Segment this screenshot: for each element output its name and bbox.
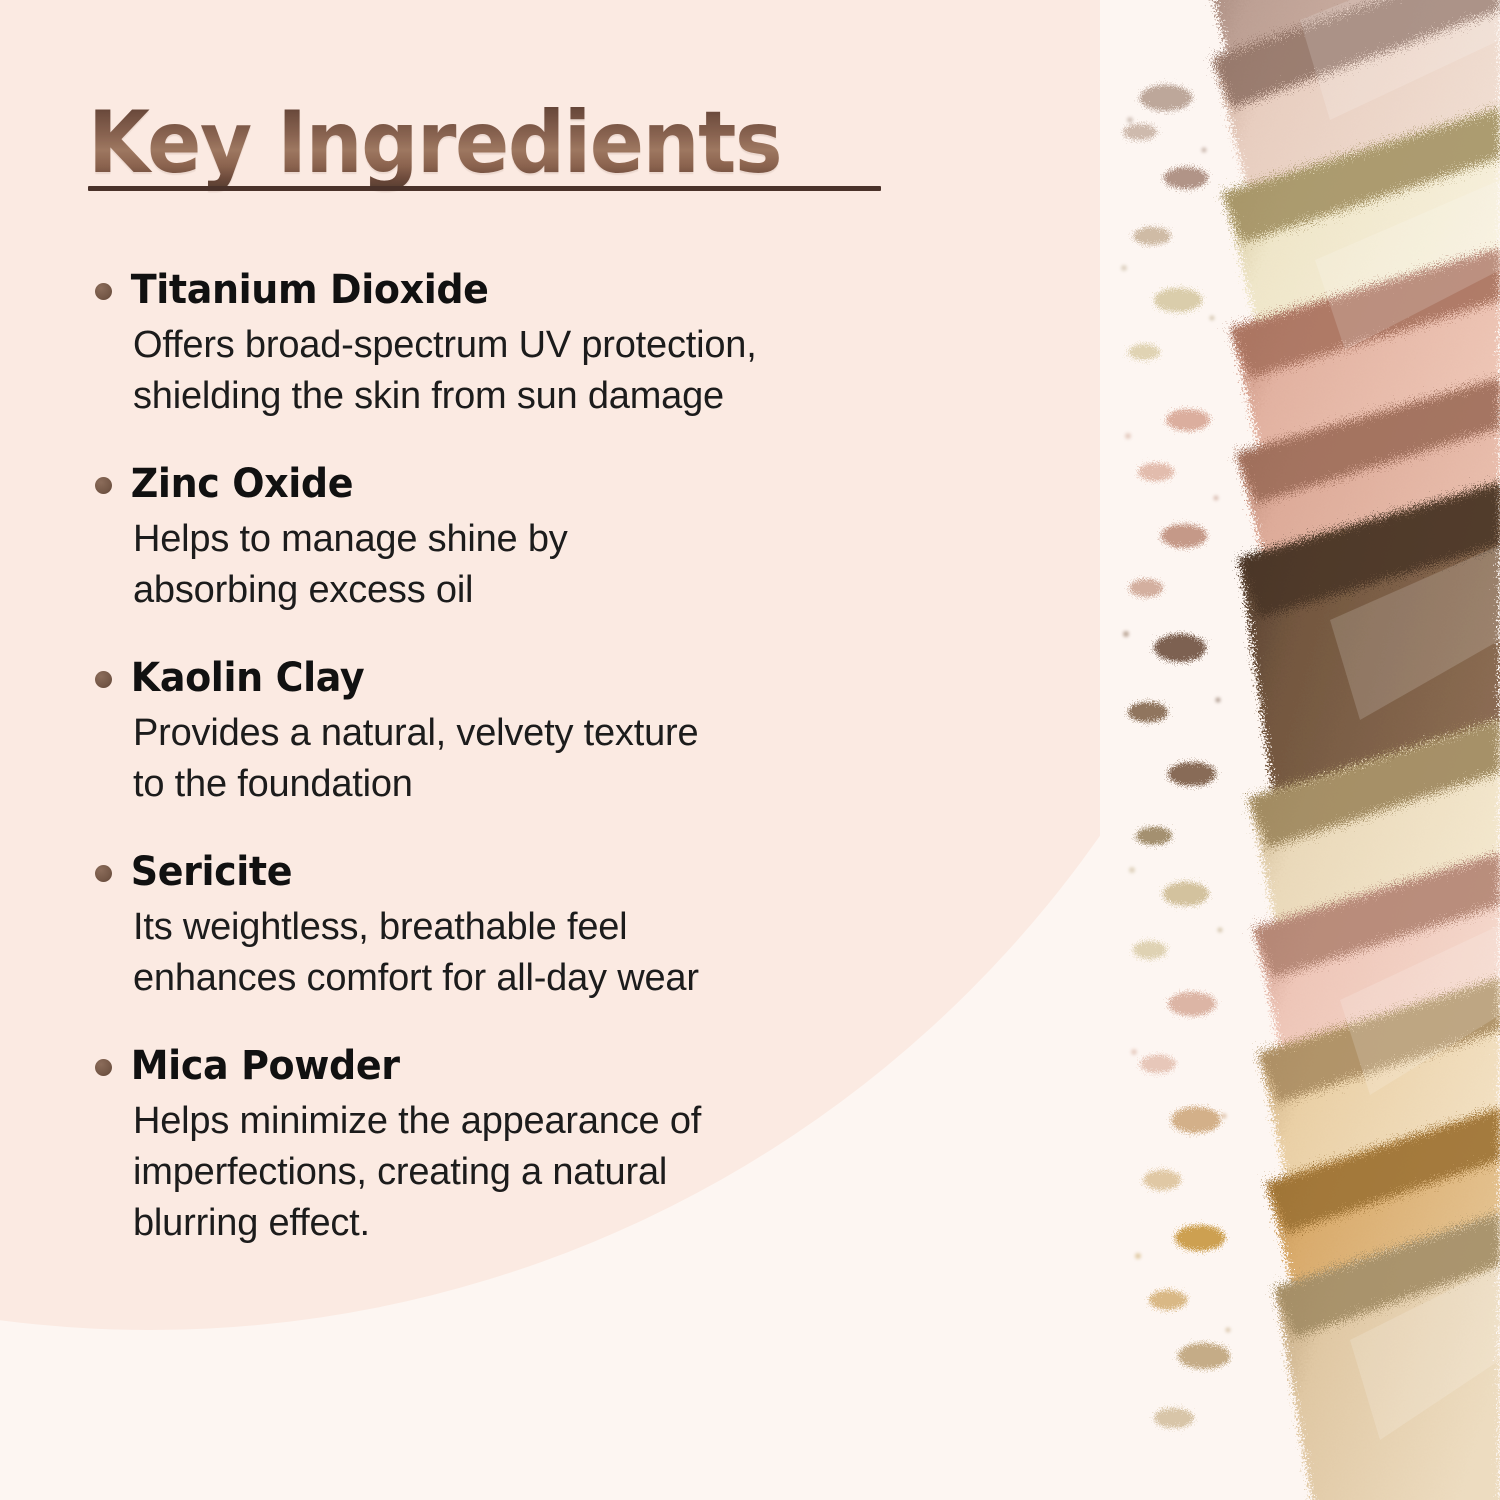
ingredient-name: Mica Powder: [88, 1040, 1000, 1092]
list-item: Sericite Its weightless, breathable feel…: [88, 846, 1048, 1040]
powder-swatch-image: [1100, 0, 1500, 1500]
list-item: Titanium Dioxide Offers broad-spectrum U…: [88, 264, 1048, 458]
ingredient-description: Provides a natural, velvety texture to t…: [88, 708, 1048, 810]
ingredient-list: Titanium Dioxide Offers broad-spectrum U…: [88, 264, 1048, 1285]
page-title: Key Ingredients: [88, 100, 832, 186]
ingredient-description: Offers broad-spectrum UV protection, shi…: [88, 320, 1048, 422]
ingredient-name: Zinc Oxide: [88, 458, 1000, 510]
ingredient-description: Helps to manage shine by absorbing exces…: [88, 514, 1048, 616]
list-item: Mica Powder Helps minimize the appearanc…: [88, 1040, 1048, 1285]
title-underline: [88, 186, 881, 191]
list-item: Kaolin Clay Provides a natural, velvety …: [88, 652, 1048, 846]
ingredient-name: Kaolin Clay: [88, 652, 1000, 704]
poster-canvas: Key Ingredients Titanium Dioxide Offers …: [0, 0, 1500, 1500]
list-item: Zinc Oxide Helps to manage shine by abso…: [88, 458, 1048, 652]
ingredient-description: Its weightless, breathable feel enhances…: [88, 902, 1048, 1004]
ingredient-name: Titanium Dioxide: [88, 264, 1000, 316]
page-title-block: Key Ingredients: [88, 100, 888, 186]
ingredient-description: Helps minimize the appearance of imperfe…: [88, 1096, 1048, 1249]
ingredient-name: Sericite: [88, 846, 1000, 898]
powder-swatch-graphic: [1100, 0, 1500, 1500]
